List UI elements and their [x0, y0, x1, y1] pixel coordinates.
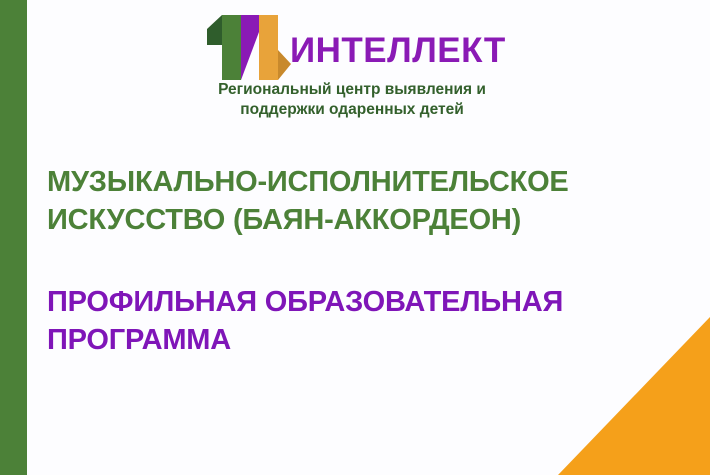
slide-subtitle-line-1: ПРОФИЛЬНАЯ ОБРАЗОВАТЕЛЬНАЯ — [47, 283, 647, 321]
presentation-slide: ИНТЕЛЛЕКТ Региональный центр выявления и… — [0, 0, 710, 475]
left-green-accent-bar — [0, 0, 27, 475]
organization-logo: ИНТЕЛЛЕКТ Региональный центр выявления и… — [196, 12, 516, 122]
logo-wordmark: ИНТЕЛЛЕКТ — [290, 33, 506, 68]
logo-tagline-line-1: Региональный центр выявления и — [202, 80, 502, 100]
slide-title-line-2: ИСКУССТВО (БАЯН-АККОРДЕОН) — [47, 201, 677, 239]
logo-tagline-line-2: поддержки одаренных детей — [202, 100, 502, 120]
slide-title: МУЗЫКАЛЬНО-ИСПОЛНИТЕЛЬСКОЕ ИСКУССТВО (БА… — [47, 163, 677, 240]
intellekt-monogram-icon — [196, 12, 292, 82]
slide-subtitle-line-2: ПРОГРАММА — [47, 321, 647, 359]
logo-tagline: Региональный центр выявления и поддержки… — [202, 80, 502, 120]
slide-subtitle: ПРОФИЛЬНАЯ ОБРАЗОВАТЕЛЬНАЯ ПРОГРАММА — [47, 283, 647, 360]
slide-title-line-1: МУЗЫКАЛЬНО-ИСПОЛНИТЕЛЬСКОЕ — [47, 163, 677, 201]
logo-row: ИНТЕЛЛЕКТ — [196, 12, 516, 82]
